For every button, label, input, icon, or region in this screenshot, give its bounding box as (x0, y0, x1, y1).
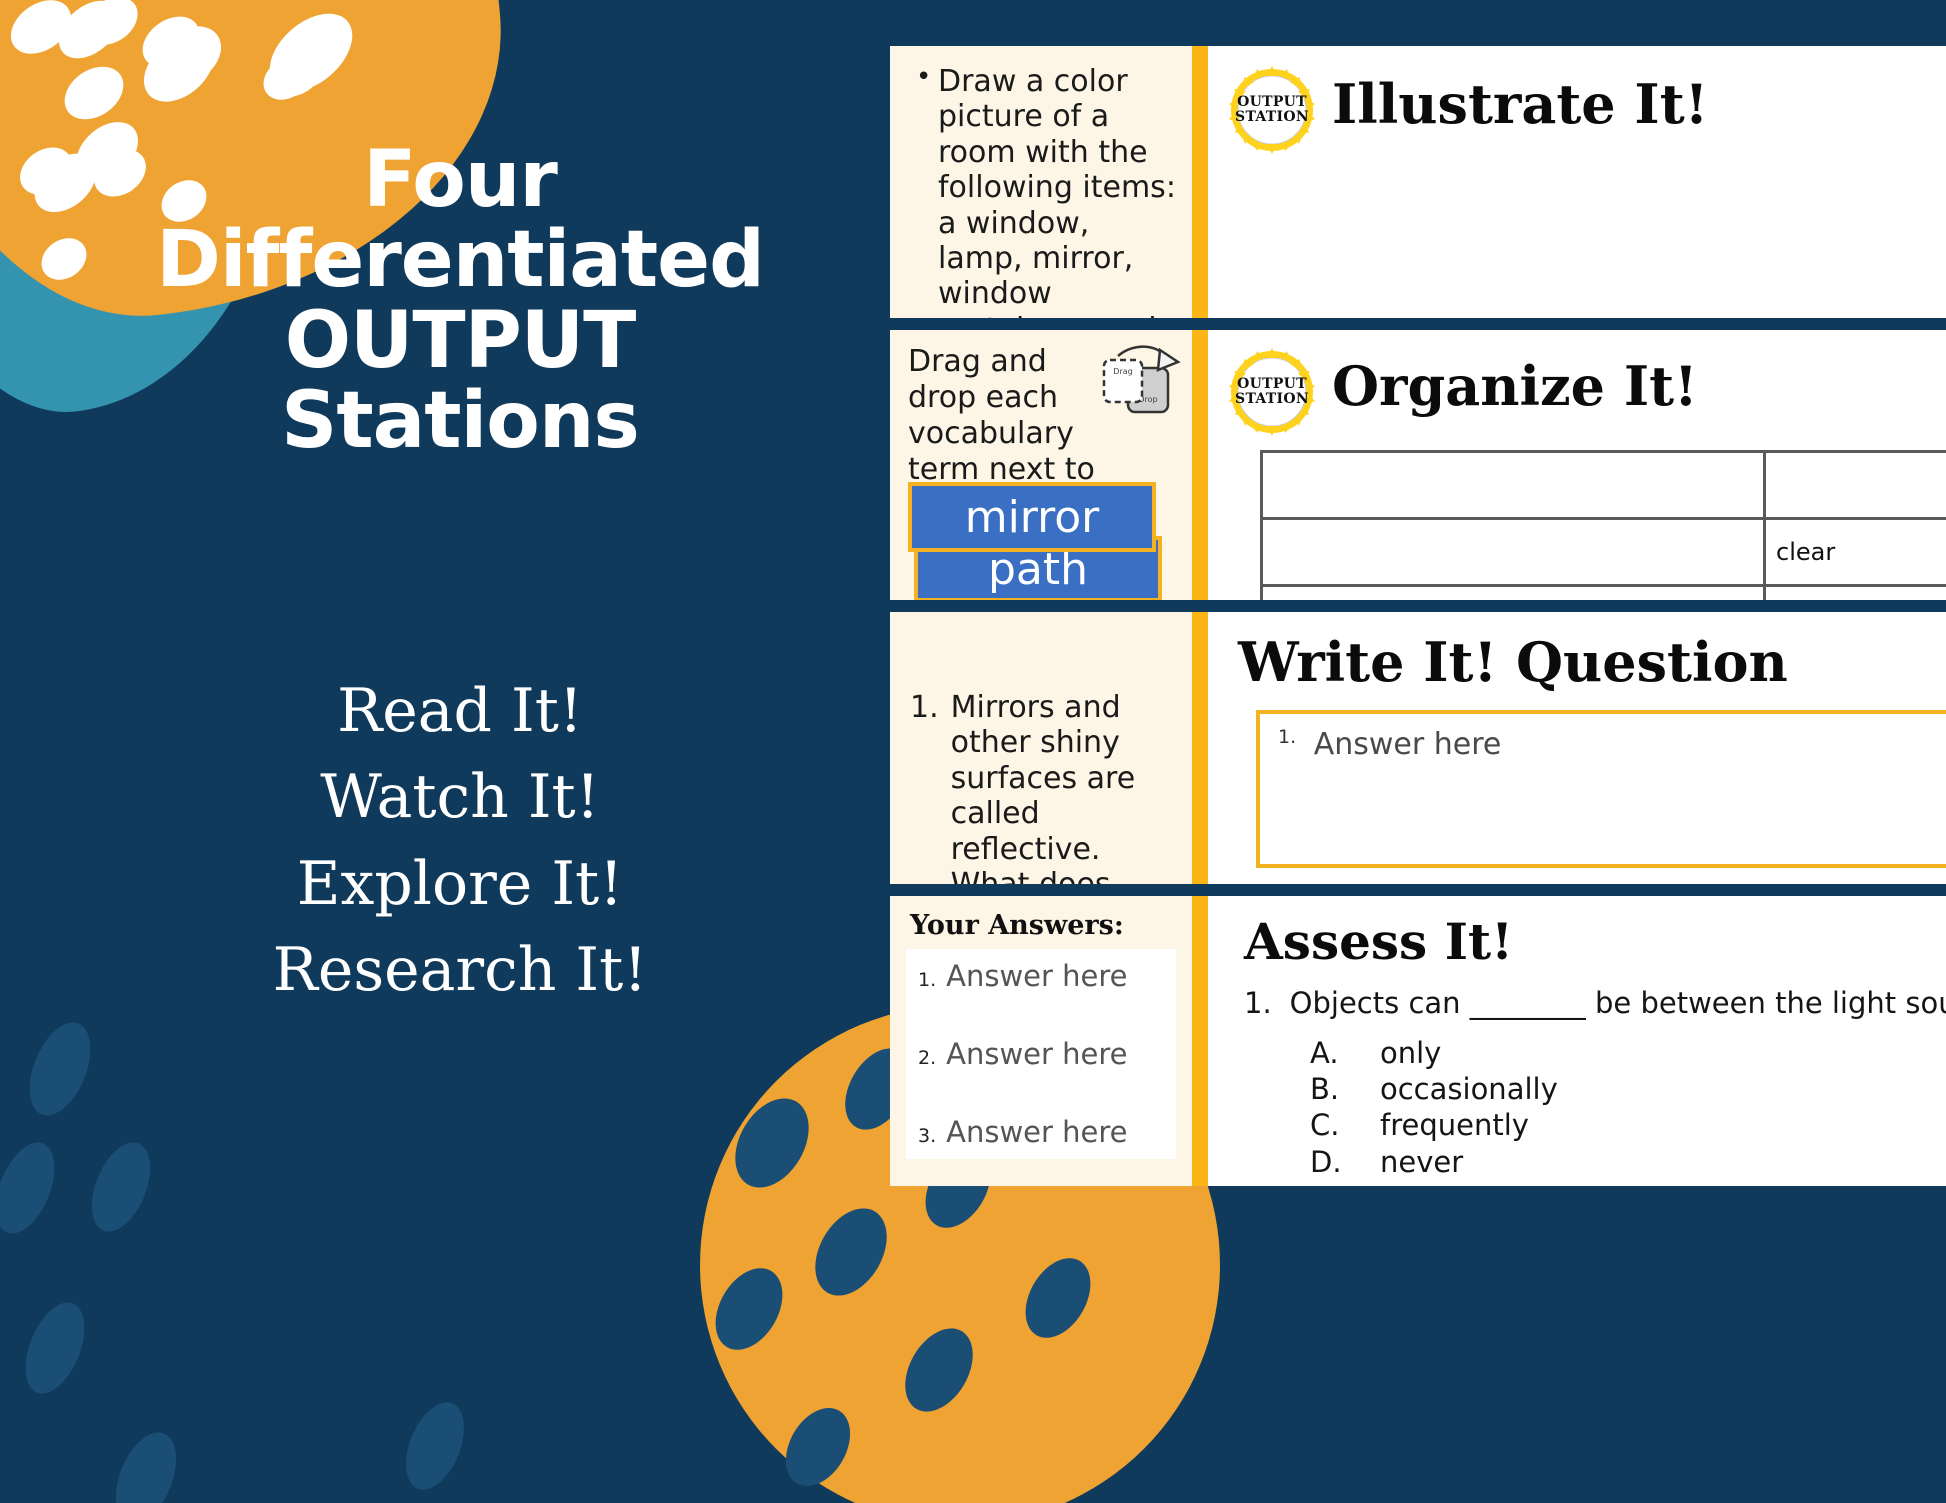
page-title: Four Differentiated OUTPUT Stations (150, 140, 770, 461)
slide-card-write[interactable]: 1. Mirrors and other shiny surfaces are … (890, 612, 1946, 884)
station-item-read: Read It! (150, 668, 770, 754)
slide-card-organize[interactable]: Drag and drop each vocabulary term next … (890, 330, 1946, 600)
badge-line-2: STATION (1235, 110, 1309, 125)
write-question: 1. Mirrors and other shiny surfaces are … (910, 690, 1172, 884)
assess-question-block: 1. Objects can ________ be between the l… (1244, 986, 1946, 1186)
illustrate-bullet-list: Draw a color picture of a room with the … (912, 64, 1180, 318)
list-item: Draw a color picture of a room with the … (912, 64, 1180, 318)
assess-answers-panel: Your Answers: 1. Answer here 2. Answer h… (890, 896, 1192, 1186)
output-station-badge-icon: OUTPUT STATION (1226, 64, 1318, 156)
choice-b[interactable]: B. occasionally (1310, 1071, 1946, 1107)
choice-letter: C. (1310, 1107, 1344, 1143)
svg-text:Drag: Drag (1113, 367, 1132, 376)
gold-divider-bar (1192, 896, 1208, 1186)
list-item[interactable]: 3. Answer here (918, 1115, 1176, 1149)
headline-line-4: Stations (150, 381, 770, 461)
answer-number: 2. (918, 1047, 936, 1069)
table-cell (1262, 519, 1765, 586)
answers-list: 1. Answer here 2. Answer here 3. Answer … (906, 949, 1176, 1159)
headline-line-2: Differentiated (150, 220, 770, 300)
slide-preview-stack: Draw a color picture of a room with the … (890, 0, 1946, 1503)
headline-line-1: Four (150, 140, 770, 220)
table-row (1262, 452, 1946, 519)
table-cell (1765, 586, 1946, 601)
headline-line-3: OUTPUT (150, 301, 770, 381)
write-slide-body: Write It! Question 1. Answer here (1208, 612, 1946, 884)
station-list: Read It! Watch It! Explore It! Research … (150, 668, 770, 1014)
answer-number: 1. (1278, 726, 1296, 748)
answer-placeholder: Answer here (946, 1037, 1127, 1071)
choice-letter: B. (1310, 1071, 1344, 1107)
table-cell (1262, 452, 1765, 519)
assess-title: Assess It! (1244, 912, 1513, 971)
badge-line-1: OUTPUT (1237, 95, 1307, 110)
question-text: Objects can ________ be between the ligh… (1290, 986, 1946, 1021)
assess-question-1: 1. Objects can ________ be between the l… (1244, 986, 1946, 1021)
organize-slide-body: OUTPUT STATION Organize It! clear (1208, 330, 1946, 600)
illustrate-instructions-panel: Draw a color picture of a room with the … (890, 46, 1192, 318)
answer-placeholder: Answer here (946, 959, 1127, 993)
table-row (1262, 586, 1946, 601)
assess-choice-list: A. only B. occasionally C. frequently (1310, 1035, 1946, 1180)
answer-placeholder: Answer here (1314, 727, 1502, 762)
list-item[interactable]: 2. Answer here (918, 1037, 1176, 1071)
answer-placeholder: Answer here (946, 1115, 1127, 1149)
table-cell (1765, 452, 1946, 519)
navy-speckle-cluster (0, 1010, 560, 1503)
choice-d[interactable]: D. never (1310, 1144, 1946, 1180)
station-item-watch: Watch It! (150, 754, 770, 840)
badge-line-1: OUTPUT (1237, 377, 1307, 392)
question-number: 1. (910, 690, 939, 884)
choice-letter: A. (1310, 1035, 1344, 1071)
choice-text: never (1380, 1144, 1463, 1180)
choice-text: occasionally (1380, 1071, 1558, 1107)
choice-letter: D. (1310, 1144, 1344, 1180)
drag-and-drop-icon: Drop Drag (1098, 344, 1184, 420)
organize-instructions-panel: Drag and drop each vocabulary term next … (890, 330, 1192, 600)
gold-divider-bar (1192, 330, 1208, 600)
choice-c[interactable]: C. frequently (1310, 1107, 1946, 1143)
your-answers-heading: Your Answers: (910, 910, 1182, 941)
choice-a[interactable]: A. only (1310, 1035, 1946, 1071)
output-station-badge-icon: OUTPUT STATION (1226, 346, 1318, 438)
illustrate-title: Illustrate It! (1332, 72, 1708, 136)
question-text: Mirrors and other shiny surfaces are cal… (951, 690, 1172, 884)
assess-slide-body: Assess It! 1. Objects can ________ be be… (1208, 896, 1946, 1186)
slide-card-illustrate[interactable]: Draw a color picture of a room with the … (890, 46, 1946, 318)
badge-line-2: STATION (1235, 392, 1309, 407)
station-item-explore: Explore It! (150, 841, 770, 927)
write-answer-field[interactable]: 1. Answer here (1256, 710, 1946, 868)
gold-divider-bar (1192, 612, 1208, 884)
write-question-panel: 1. Mirrors and other shiny surfaces are … (890, 612, 1192, 884)
station-item-research: Research It! (150, 927, 770, 1013)
answer-number: 3. (918, 1125, 936, 1147)
question-number: 1. (1244, 986, 1272, 1021)
answer-number: 1. (918, 969, 936, 991)
table-cell: clear (1765, 519, 1946, 586)
table-row: clear (1262, 519, 1946, 586)
organize-title: Organize It! (1332, 354, 1698, 418)
organize-definition-table: clear (1260, 450, 1946, 600)
illustrate-slide-body: OUTPUT STATION Illustrate It! (1208, 46, 1946, 318)
vocab-tile-mirror[interactable]: mirror (908, 482, 1156, 552)
poster-canvas: Four Differentiated OUTPUT Stations Read… (0, 0, 1946, 1503)
choice-text: frequently (1380, 1107, 1529, 1143)
choice-text: only (1380, 1035, 1441, 1071)
slide-card-assess[interactable]: Your Answers: 1. Answer here 2. Answer h… (890, 896, 1946, 1186)
table-cell (1262, 586, 1765, 601)
list-item[interactable]: 1. Answer here (918, 959, 1176, 993)
gold-divider-bar (1192, 46, 1208, 318)
write-title: Write It! Question (1238, 630, 1788, 694)
